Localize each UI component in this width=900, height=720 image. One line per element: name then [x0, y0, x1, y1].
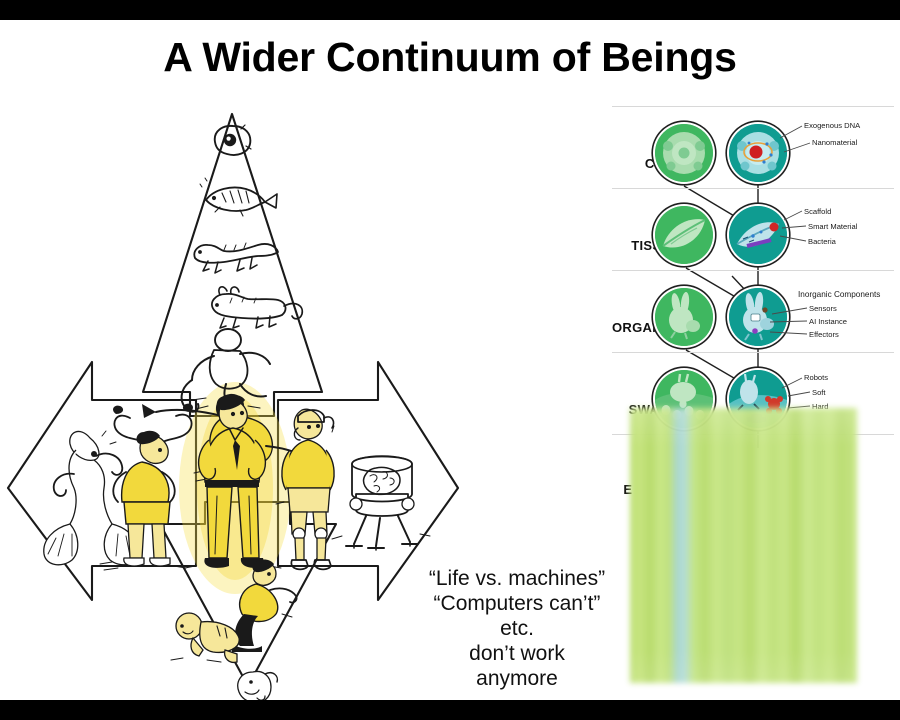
engineered-tissue-icon[interactable]	[729, 206, 787, 264]
amphibian-salamander	[194, 243, 278, 273]
engineered-cell-icon[interactable]	[729, 124, 787, 182]
caption-line-1: “Life vs. machines”	[392, 566, 642, 591]
crawling-baby	[171, 613, 239, 662]
annotation-inorganic-components: Inorganic Components	[798, 290, 880, 300]
small-mammal-shrew	[212, 287, 302, 328]
annotation-robots: Robots	[804, 373, 828, 383]
single-cell-organism	[215, 125, 251, 155]
annotation-effectors: Effectors	[809, 330, 839, 340]
row-separator-2	[612, 188, 894, 189]
annotation-ai-instance: AI Instance	[809, 317, 847, 327]
annotation-smart-material: Smart Material	[808, 222, 857, 232]
plant-cell-icon[interactable]	[655, 124, 713, 182]
caption-line-2: “Computers can’t”	[392, 591, 642, 616]
row-separator-3	[612, 270, 894, 271]
caption-block: “Life vs. machines” “Computers can’t” et…	[392, 566, 642, 691]
blurred-green-smear	[630, 408, 857, 683]
letterbox-bar-bottom	[0, 700, 900, 720]
slide-canvas: A Wider Continuum of Beings	[0, 20, 900, 700]
annotation-soft: Soft	[812, 388, 826, 398]
caption-line-4: don’t work	[392, 641, 642, 666]
annotation-nanomaterial: Nanomaterial	[812, 138, 857, 148]
caption-line-5: anymore	[392, 666, 642, 691]
page-title: A Wider Continuum of Beings	[0, 34, 900, 81]
row-separator-1	[612, 106, 894, 107]
fetus	[238, 671, 278, 700]
leaf-tissue-icon[interactable]	[655, 206, 713, 264]
annotation-scaffold: Scaffold	[804, 207, 831, 217]
annotation-sensors: Sensors	[809, 304, 837, 314]
biological-vs-engineered-continuum-chart: CELL	[612, 108, 900, 448]
engineered-organism-icon[interactable]	[729, 288, 787, 346]
letterbox-bar-top	[0, 0, 900, 20]
fish	[200, 178, 277, 216]
annotation-exogenous-dna: Exogenous DNA	[804, 121, 860, 131]
rabbit-organism-icon[interactable]	[655, 288, 713, 346]
annotation-bacteria: Bacteria	[808, 237, 836, 247]
row-separator-4	[612, 352, 894, 353]
caption-line-3: etc.	[392, 616, 642, 641]
brain-in-a-jar-robot	[332, 456, 430, 550]
